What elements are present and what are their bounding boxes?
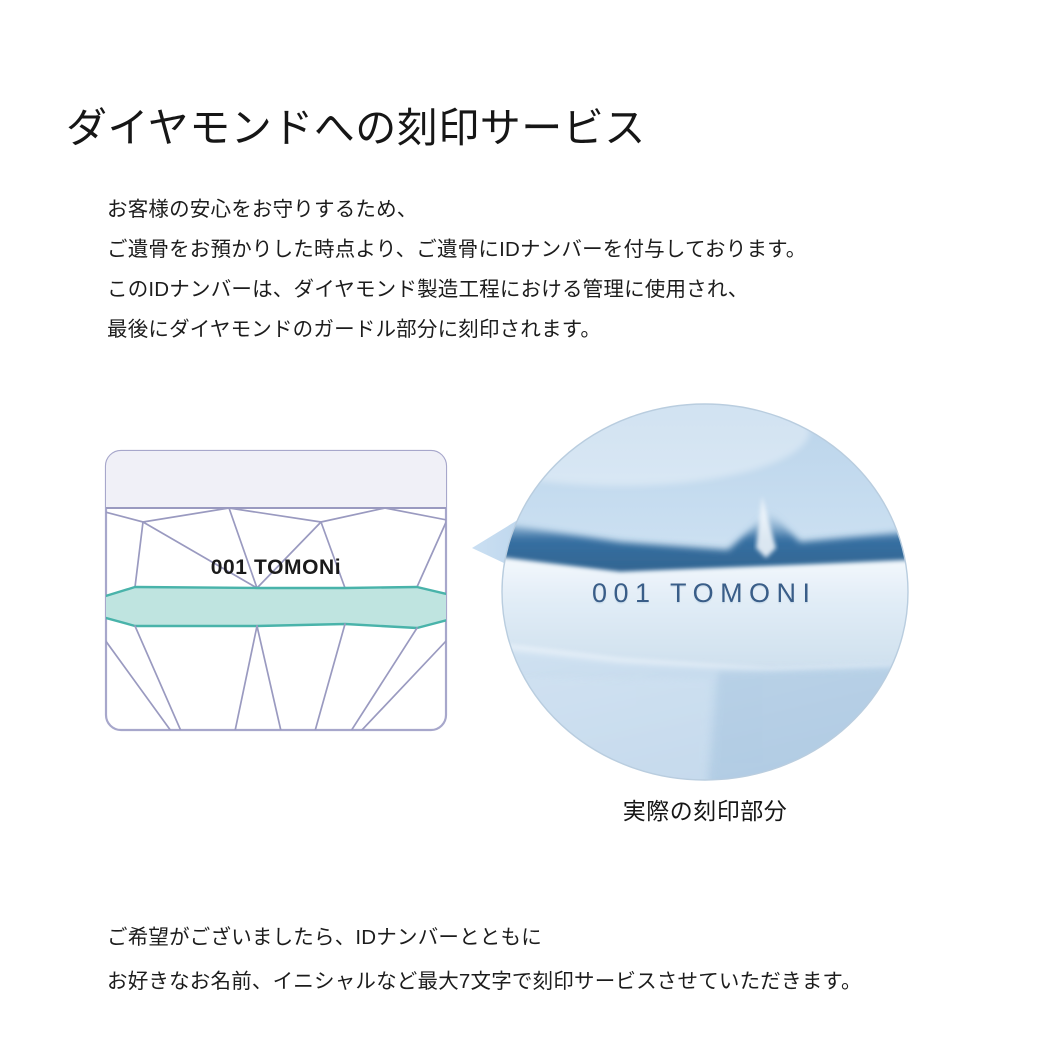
footer-paragraph: ご希望がございましたら、IDナンバーとともに お好きなお名前、イニシャルなど最大… [107, 916, 987, 1004]
table-facet-fill [105, 450, 447, 508]
page-title: ダイヤモンドへの刻印サービス [66, 104, 646, 153]
pavilion-shade-left [460, 676, 710, 800]
intro-paragraph: お客様の安心をお守りするため、 ご遺骨をお預かりした時点より、ご遺骨にIDナンバ… [107, 190, 967, 350]
top-highlight [430, 374, 810, 486]
intro-line-1: お客様の安心をお守りするため、 [107, 190, 967, 230]
page-root: ダイヤモンドへの刻印サービス お客様の安心をお守りするため、 ご遺骨をお預かりし… [0, 0, 1060, 1060]
intro-line-3: このIDナンバーは、ダイヤモンド製造工程における管理に使用され、 [107, 270, 967, 310]
girdle-band [99, 587, 455, 628]
footer-line-1: ご希望がございましたら、IDナンバーとともに [107, 916, 987, 960]
photo-content [430, 374, 950, 810]
engraving-photo: 001 TOMONI [470, 400, 940, 795]
footer-line-2: お好きなお名前、イニシャルなど最大7文字で刻印サービスさせていただきます。 [107, 960, 987, 1004]
intro-line-4: 最後にダイヤモンドのガードル部分に刻印されます。 [107, 310, 967, 350]
engraving-photo-graphic [470, 400, 940, 795]
figure-area: 001 TOMONi [0, 400, 1060, 850]
intro-line-2: ご遺骨をお預かりした時点より、ご遺骨にIDナンバーを付与しております。 [107, 230, 967, 270]
photo-caption: 実際の刻印部分 [470, 792, 940, 826]
pavilion-shade-right [710, 668, 940, 800]
diamond-facet-illustration [105, 450, 447, 731]
diamond-diagram-card: 001 TOMONi [105, 450, 447, 731]
